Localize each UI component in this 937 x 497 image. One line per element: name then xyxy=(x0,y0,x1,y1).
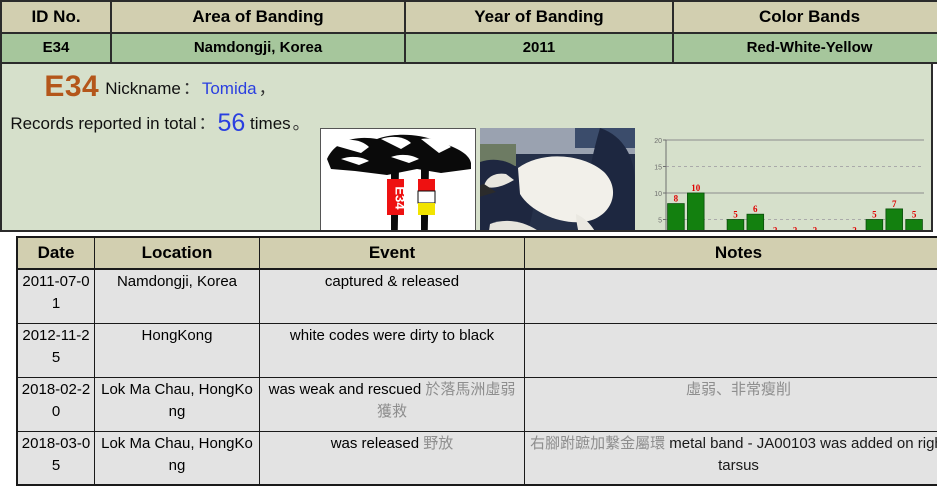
svg-text:5: 5 xyxy=(872,210,877,220)
record-location: HongKong xyxy=(95,323,260,377)
nickname-separator: ： xyxy=(181,79,202,98)
nickname-punctuation: ， xyxy=(257,79,278,98)
records-per-year-chart-svg: 0510152082011102012120135201462015220162… xyxy=(640,130,930,232)
record-location: Namdongji, Korea xyxy=(95,269,260,323)
svg-text:10: 10 xyxy=(654,191,662,198)
record-date: 2018-02-20 xyxy=(17,377,95,431)
banding-header-color: Color Bands xyxy=(673,1,937,33)
record-event-en: captured & released xyxy=(325,273,459,290)
record-location: Lok Ma Chau, HongKong xyxy=(95,431,260,485)
records-unit: times xyxy=(250,114,291,133)
record-event-en: white codes were dirty to black xyxy=(290,327,494,344)
record-date: 2018-03-05 xyxy=(17,431,95,485)
banding-header-id: ID No. xyxy=(1,1,111,33)
spoonbill-record-page: ID No. Area of Banding Year of Banding C… xyxy=(0,0,937,497)
record-event: was weak and rescued 於落馬洲虛弱獲救 xyxy=(260,377,525,431)
records-separator: ： xyxy=(196,114,217,133)
svg-text:2: 2 xyxy=(793,225,798,232)
record-event: white codes were dirty to black xyxy=(260,323,525,377)
record-event-en: was weak and rescued xyxy=(269,381,426,398)
svg-text:20: 20 xyxy=(654,138,662,145)
records-per-year-chart: 0510152082011102012120135201462015220162… xyxy=(640,130,930,232)
banding-photo: Dr. Kisup Lee@Korea xyxy=(480,128,635,232)
banding-summary-table: ID No. Area of Banding Year of Banding C… xyxy=(0,0,937,64)
record-notes xyxy=(525,269,937,323)
record-event-en: was released xyxy=(331,435,424,452)
svg-text:E34: E34 xyxy=(393,186,408,210)
records-table: Date Location Event Notes 2011-07-01Namd… xyxy=(16,236,937,486)
banding-value-color: Red-White-Yellow xyxy=(673,33,937,63)
svg-text:2: 2 xyxy=(813,225,818,232)
nickname-value: Tomida xyxy=(202,79,257,98)
record-notes-cjk: 右腳跗蹠加繫金屬環 xyxy=(530,435,669,452)
table-row: 2012-11-25HongKongwhite codes were dirty… xyxy=(17,323,937,377)
svg-text:10: 10 xyxy=(691,183,701,193)
banding-value-year: 2011 xyxy=(405,33,673,63)
bird-id-heading: E34 xyxy=(44,70,99,103)
banding-header-row: ID No. Area of Banding Year of Banding C… xyxy=(1,1,937,33)
record-event: captured & released xyxy=(260,269,525,323)
svg-text:8: 8 xyxy=(674,194,679,204)
records-header-row: Date Location Event Notes xyxy=(17,237,937,269)
table-row: 2018-03-05Lok Ma Chau, HongKongwas relea… xyxy=(17,431,937,485)
record-date: 2012-11-25 xyxy=(17,323,95,377)
records-header-notes: Notes xyxy=(525,237,937,269)
svg-text:7: 7 xyxy=(892,199,897,209)
svg-text:1: 1 xyxy=(832,231,837,232)
svg-text:5: 5 xyxy=(658,218,662,225)
records-body: 2011-07-01Namdongji, Koreacaptured & rel… xyxy=(17,269,937,485)
nickname-label: Nickname xyxy=(105,79,181,98)
record-event: was released 野放 xyxy=(260,431,525,485)
table-row: 2018-02-20Lok Ma Chau, HongKongwas weak … xyxy=(17,377,937,431)
record-location: Lok Ma Chau, HongKong xyxy=(95,377,260,431)
records-section: Date Location Event Notes 2011-07-01Namd… xyxy=(16,236,931,486)
banding-header-area: Area of Banding xyxy=(111,1,405,33)
records-punctuation: 。 xyxy=(291,114,312,133)
svg-text:2: 2 xyxy=(852,225,857,232)
record-event-cjk: 野放 xyxy=(423,435,453,452)
leg-band-diagram-svg: E34 xyxy=(321,129,475,232)
records-header-location: Location xyxy=(95,237,260,269)
record-notes-cjk: 虛弱、非常瘦削 xyxy=(686,381,791,398)
records-count: 56 xyxy=(217,109,245,137)
record-notes xyxy=(525,323,937,377)
banding-value-id: E34 xyxy=(1,33,111,63)
record-notes: 右腳跗蹠加繫金屬環 metal band - JA00103 was added… xyxy=(525,431,937,485)
leg-band-diagram: E34 xyxy=(320,128,476,232)
svg-text:5: 5 xyxy=(912,210,917,220)
svg-text:2: 2 xyxy=(773,225,778,232)
records-header-date: Date xyxy=(17,237,95,269)
svg-text:6: 6 xyxy=(753,204,758,214)
svg-text:15: 15 xyxy=(654,165,662,172)
record-notes-en: metal band - JA00103 was added on right … xyxy=(669,435,937,474)
banding-value-row: E34 Namdongji, Korea 2011 Red-White-Yell… xyxy=(1,33,937,63)
table-row: 2011-07-01Namdongji, Koreacaptured & rel… xyxy=(17,269,937,323)
record-notes: 虛弱、非常瘦削 xyxy=(525,377,937,431)
bird-summary-text: E34Nickname：Tomida， Records reported in … xyxy=(10,70,312,141)
banding-header-year: Year of Banding xyxy=(405,1,673,33)
bird-info-panel: E34Nickname：Tomida， Records reported in … xyxy=(0,64,933,232)
svg-text:1: 1 xyxy=(713,231,718,232)
record-date: 2011-07-01 xyxy=(17,269,95,323)
banding-photo-svg xyxy=(480,128,635,232)
records-header-event: Event xyxy=(260,237,525,269)
banding-value-area: Namdongji, Korea xyxy=(111,33,405,63)
records-label: Records reported in total xyxy=(10,114,196,133)
svg-text:5: 5 xyxy=(733,210,738,220)
